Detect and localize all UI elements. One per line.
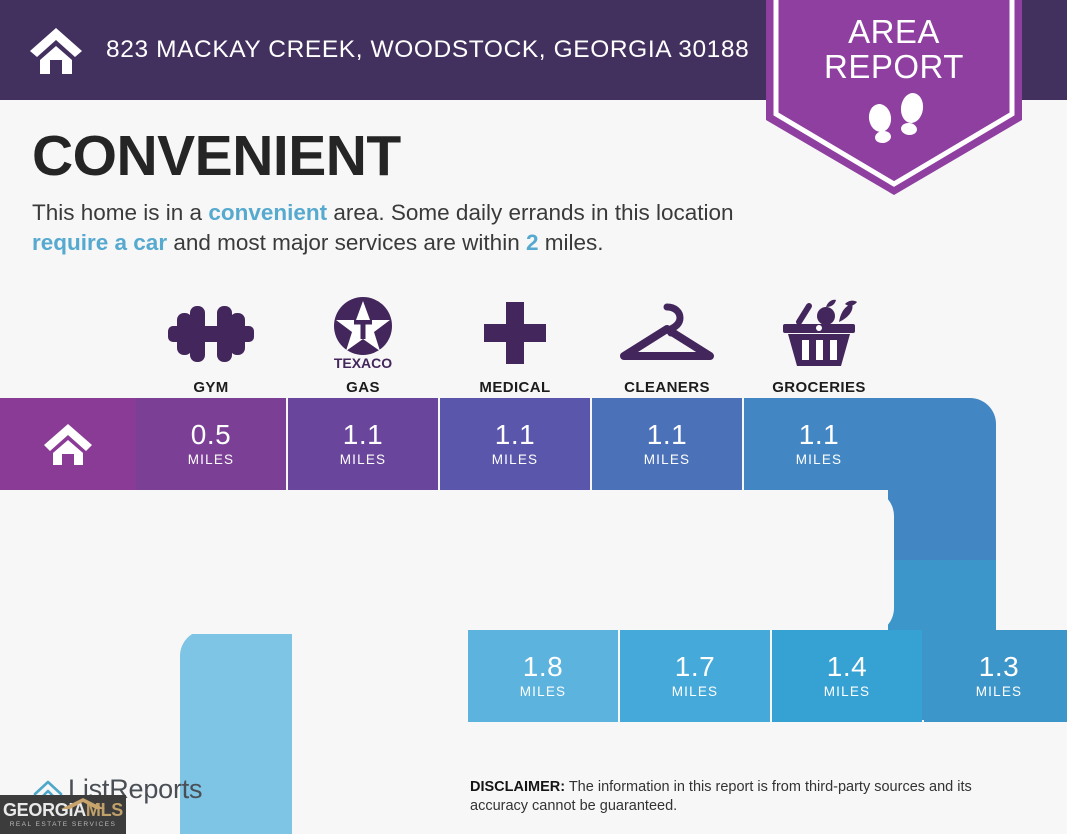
distance-unit: MILES (520, 684, 567, 699)
sentence-part-2: area. Some daily errands in this locatio… (327, 200, 733, 225)
distance-value: 1.1 (647, 421, 687, 449)
grocery-basket-icon (777, 295, 861, 373)
distance-value: 1.1 (343, 421, 383, 449)
distance-unit: MILES (796, 452, 843, 467)
area-report-badge: AREA REPORT (766, 0, 1022, 195)
distance-cell-gas: 1.1 MILES (288, 398, 438, 490)
summary-sentence: This home is in a convenient area. Some … (32, 198, 762, 258)
distance-unit: MILES (644, 452, 691, 467)
distance-value: 1.3 (979, 653, 1019, 681)
distance-unit: MILES (824, 684, 871, 699)
svg-text:TEXACO: TEXACO (334, 355, 392, 371)
category-groceries: GROCERIES (744, 286, 894, 396)
dumbbell-icon (163, 295, 259, 373)
page-title: CONVENIENT (32, 128, 401, 185)
distance-unit: MILES (340, 452, 387, 467)
distance-bars: 0.5 MILES 1.1 MILES 1.1 MILES 1.1 MILES … (0, 398, 1067, 834)
category-label: CLEANERS (624, 379, 710, 396)
distance-unit: MILES (492, 452, 539, 467)
distance-unit: MILES (188, 452, 235, 467)
category-medical: MEDICAL (440, 286, 590, 396)
sentence-part-4: and most major services are within (167, 230, 526, 255)
sentence-part-0: This home is in a (32, 200, 208, 225)
distance-value: 1.4 (827, 653, 867, 681)
property-address: 823 MACKAY CREEK, WOODSTOCK, GEORGIA 301… (106, 36, 749, 64)
sentence-accent-miles-number: 2 (526, 230, 539, 255)
disclaimer-label: DISCLAIMER: (470, 779, 565, 795)
medical-cross-icon (480, 295, 550, 373)
clothes-hanger-icon (617, 295, 717, 373)
category-label: MEDICAL (479, 379, 550, 396)
category-gas: TEXACO GAS (288, 286, 438, 396)
distance-unit: MILES (672, 684, 719, 699)
mls-roof-icon (60, 797, 106, 810)
category-label: GAS (346, 379, 380, 396)
distance-value: 1.7 (675, 653, 715, 681)
mls-tagline: REAL ESTATE SERVICES (10, 821, 117, 828)
distance-cell-cleaners: 1.1 MILES (592, 398, 742, 490)
distance-value: 1.8 (523, 653, 563, 681)
category-label: GYM (193, 379, 228, 396)
distance-cell-medical: 1.1 MILES (440, 398, 590, 490)
distance-bar-row-one: 0.5 MILES 1.1 MILES 1.1 MILES 1.1 MILES … (0, 398, 996, 490)
area-report-page: 823 MACKAY CREEK, WOODSTOCK, GEORGIA 301… (0, 0, 1067, 834)
distance-cell-atm: 1.7 MILES (620, 630, 770, 722)
texaco-star-icon: TEXACO (327, 295, 399, 373)
distance-value: 0.5 (191, 421, 231, 449)
distance-value: 1.1 (799, 421, 839, 449)
distance-value: 1.1 (495, 421, 535, 449)
sentence-accent-convenient: convenient (208, 200, 327, 225)
distance-cell-gym: 0.5 MILES (136, 398, 286, 490)
distance-unit: MILES (976, 684, 1023, 699)
distance-cell-movie-theater: 1.8 MILES (468, 630, 618, 722)
georgia-mls-logo: GEORGIAMLS REAL ESTATE SERVICES (0, 795, 126, 834)
category-label: GROCERIES (772, 379, 866, 396)
distance-cell-groceries: 1.1 MILES (744, 398, 894, 490)
distance-bar-row-two: 1.8 MILES 1.7 MILES 1.4 MILES 1.3 MILES (180, 630, 996, 722)
category-gym: GYM (136, 286, 286, 396)
distance-cell-coffee: 1.4 MILES (772, 630, 922, 722)
icon-row-one: GYM TEXACO GAS MEDICAL (0, 286, 1067, 396)
home-marker-cell (0, 398, 136, 490)
sentence-accent-require-a-car: require a car (32, 230, 167, 255)
category-cleaners: CLEANERS (592, 286, 742, 396)
sentence-part-6: miles. (538, 230, 603, 255)
home-icon (42, 421, 94, 467)
snake-upper-cutout (0, 490, 894, 634)
distance-cell-pharmacy: 1.3 MILES (924, 630, 1067, 722)
home-icon (28, 24, 84, 76)
disclaimer: DISCLAIMER: The information in this repo… (470, 778, 1030, 816)
